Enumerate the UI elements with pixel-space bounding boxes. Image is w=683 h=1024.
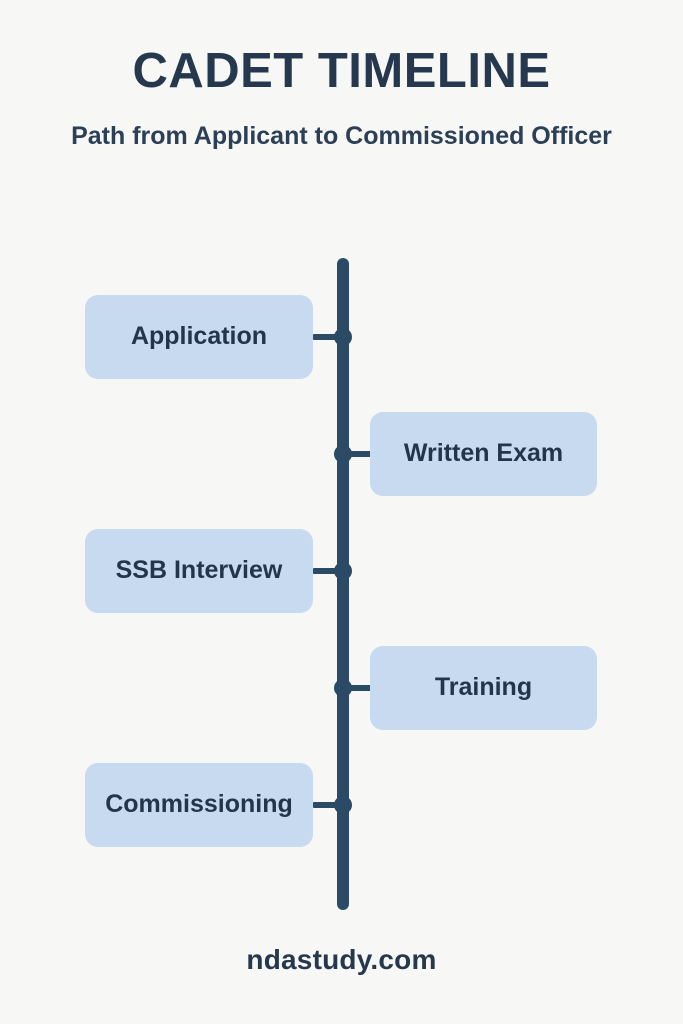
timeline-card-label: Training (435, 674, 532, 702)
timeline-dot (334, 562, 352, 580)
timeline-card-label: Application (131, 323, 267, 351)
footer-site-name: ndastudy.com (246, 944, 436, 975)
timeline-dot (334, 679, 352, 697)
timeline-card-label: SSB Interview (116, 557, 283, 585)
timeline-dot (334, 328, 352, 346)
timeline: Application Written Exam SSB Interview T… (0, 0, 683, 1024)
timeline-card-training[interactable]: Training (370, 646, 597, 730)
timeline-card-ssb-interview[interactable]: SSB Interview (85, 529, 313, 613)
timeline-dot (334, 445, 352, 463)
cadet-timeline-poster: CADET TIMELINE Path from Applicant to Co… (0, 0, 683, 1024)
timeline-card-written-exam[interactable]: Written Exam (370, 412, 597, 496)
timeline-card-application[interactable]: Application (85, 295, 313, 379)
timeline-card-label: Commissioning (105, 791, 293, 819)
poster-footer: ndastudy.com (0, 944, 683, 976)
timeline-card-commissioning[interactable]: Commissioning (85, 763, 313, 847)
timeline-card-label: Written Exam (404, 440, 563, 468)
timeline-dot (334, 796, 352, 814)
